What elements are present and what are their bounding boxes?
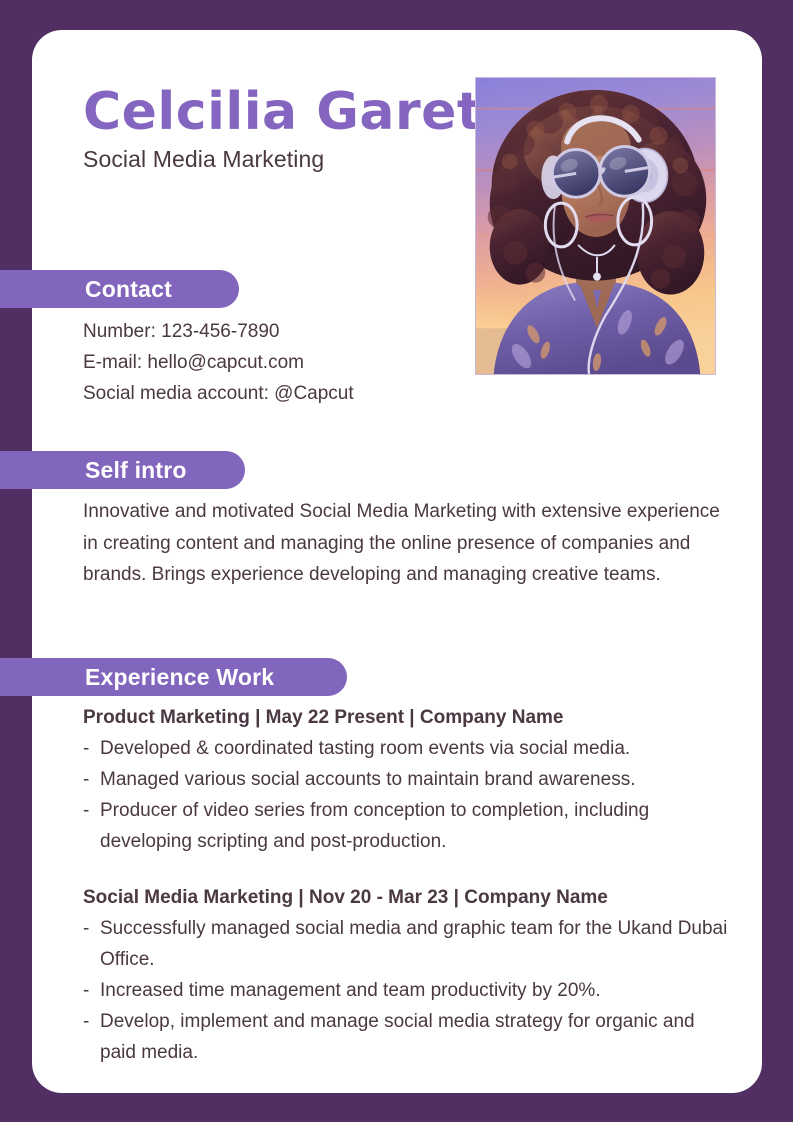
- section-title-contact: Contact: [85, 276, 172, 303]
- candidate-name: Celcilia Garet: [83, 85, 493, 140]
- section-title-self-intro: Self intro: [85, 457, 187, 484]
- contact-number: Number: 123-456-7890: [83, 316, 533, 347]
- section-title-experience: Experience Work: [85, 664, 274, 691]
- resume-card: Celcilia Garet Social Media Marketing: [32, 30, 762, 1093]
- job-bullet: Develop, implement and manage social med…: [83, 1006, 733, 1068]
- job-bullet: Increased time management and team produ…: [83, 975, 733, 1006]
- job-heading: Social Media Marketing | Nov 20 - Mar 23…: [83, 882, 733, 913]
- self-intro-body: Innovative and motivated Social Media Ma…: [83, 496, 723, 591]
- job-bullet: Producer of video series from conception…: [83, 795, 733, 857]
- resume-page: Celcilia Garet Social Media Marketing: [0, 0, 793, 1122]
- experience-entry: Social Media Marketing | Nov 20 - Mar 23…: [83, 882, 733, 1068]
- entry-spacer: [83, 857, 733, 882]
- candidate-role: Social Media Marketing: [83, 146, 493, 173]
- resume-header: Celcilia Garet Social Media Marketing: [83, 85, 493, 173]
- contact-email: E-mail: hello@capcut.com: [83, 347, 533, 378]
- job-bullet: Successfully managed social media and gr…: [83, 913, 733, 975]
- contact-social: Social media account: @Capcut: [83, 378, 533, 409]
- section-pill-contact: Contact: [0, 270, 239, 308]
- job-heading: Product Marketing | May 22 Present | Com…: [83, 702, 733, 733]
- experience-list: Product Marketing | May 22 Present | Com…: [83, 702, 733, 1068]
- experience-entry: Product Marketing | May 22 Present | Com…: [83, 702, 733, 857]
- job-bullets: Successfully managed social media and gr…: [83, 913, 733, 1068]
- job-bullet: Developed & coordinated tasting room eve…: [83, 733, 733, 764]
- job-bullet: Managed various social accounts to maint…: [83, 764, 733, 795]
- job-bullets: Developed & coordinated tasting room eve…: [83, 733, 733, 857]
- section-pill-experience: Experience Work: [0, 658, 347, 696]
- section-pill-self-intro: Self intro: [0, 451, 245, 489]
- contact-details: Number: 123-456-7890 E-mail: hello@capcu…: [83, 316, 533, 409]
